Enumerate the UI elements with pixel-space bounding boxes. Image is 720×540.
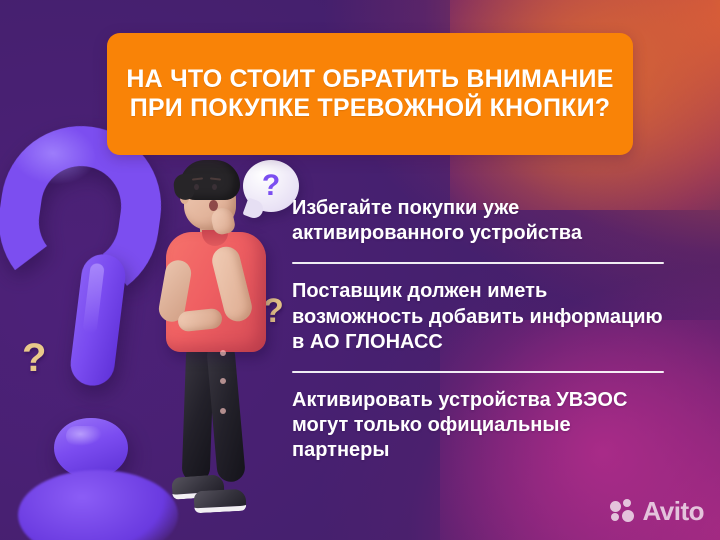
tip-item-3: Активировать устройства УВЭОС могут толь… [292,388,664,464]
shirt-button [220,350,226,356]
headline-text: НА ЧТО СТОИТ ОБРАТИТЬ ВНИМАНИЕ ПРИ ПОКУП… [107,65,633,124]
avito-brand-label: Avito [642,498,704,524]
small-yellow-question-mark-icon: ? [22,338,46,378]
shirt-button [220,408,226,414]
shirt-button [220,378,226,384]
character-hair [180,160,240,200]
tip-item-2: Поставщик должен иметь возможность добав… [292,279,664,355]
speech-bubble-symbol: ? [243,160,299,212]
question-mark-dot [54,418,128,478]
speech-bubble-question-icon: ? [243,160,299,212]
tip-divider-1 [292,262,664,264]
tips-list: Избегайте покупки уже активированного ус… [292,196,664,464]
avito-dots-icon [610,499,636,523]
headline-banner: НА ЧТО СТОИТ ОБРАТИТЬ ВНИМАНИЕ ПРИ ПОКУП… [107,33,633,155]
tip-item-1: Избегайте покупки уже активированного ус… [292,196,664,246]
avito-watermark: Avito [610,498,704,524]
character-eye-right [212,184,217,190]
tip-divider-2 [292,371,664,373]
character-shoe-right [193,489,246,514]
character-illustration [148,160,294,520]
poster-canvas: ? ? ? НА ЧТО СТОИТ ОБРАТИТЬ ВНИМА [0,0,720,540]
character-eye-left [194,184,199,190]
character-leg-right [206,341,246,483]
character-legs [178,342,252,484]
